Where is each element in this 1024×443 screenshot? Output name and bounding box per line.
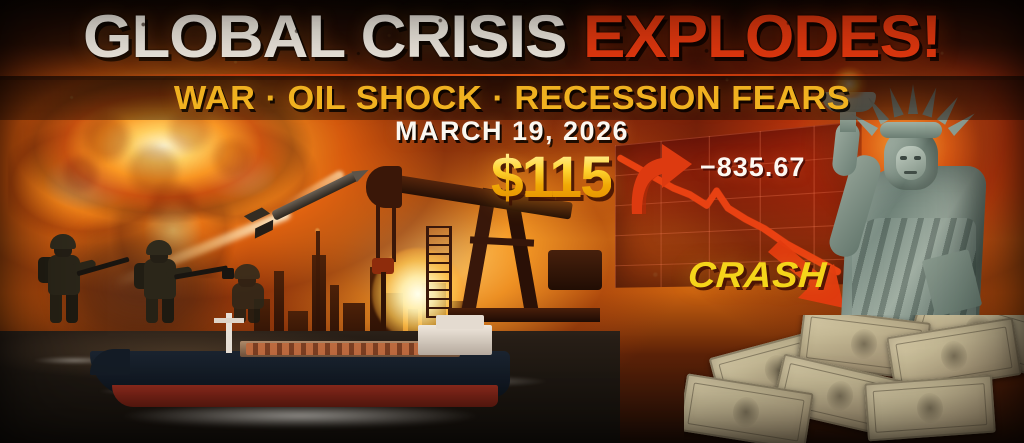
- liberty-face: [896, 146, 926, 180]
- subtitle: WAR · OIL SHOCK · RECESSION FEARS: [0, 80, 1024, 116]
- headline-accent: EXPLODES!: [583, 3, 941, 70]
- ship-bridge: [418, 325, 492, 355]
- pumpjack-ladder: [426, 226, 452, 318]
- dollar-bill: [864, 375, 996, 442]
- ship-bridge-upper: [436, 315, 484, 329]
- up-arrow-icon: [628, 144, 700, 216]
- oil-tanker-ship-icon: [90, 307, 510, 415]
- ship-boot-stripe: [112, 385, 498, 407]
- oil-price-callout: $115: [491, 148, 611, 208]
- date-label: MARCH 19, 2026: [0, 116, 1024, 146]
- crisis-news-banner: GLOBAL CRISIS EXPLODES! WAR · OIL SHOCK …: [0, 0, 1024, 443]
- pumpjack-bridle-a: [376, 204, 380, 262]
- soldier-torso: [48, 255, 80, 295]
- liberty-eye: [914, 156, 921, 160]
- soldier-torso: [144, 259, 176, 299]
- soldier-helmet: [50, 234, 76, 249]
- crash-label: CRASH: [687, 256, 828, 294]
- liberty-mouth: [904, 171, 917, 174]
- soldier-helmet: [146, 240, 172, 255]
- headline-primary: GLOBAL CRISIS: [83, 3, 566, 70]
- pumpjack-counterweight: [548, 250, 602, 290]
- pumpjack-bridle-b: [392, 204, 396, 262]
- page-title: GLOBAL CRISIS EXPLODES!: [0, 6, 1024, 68]
- dollar-bills-pile: [684, 315, 1024, 443]
- liberty-eye: [900, 156, 907, 160]
- ship-mast-crossbar: [214, 318, 244, 323]
- pumpjack-horsehead: [366, 166, 402, 208]
- headline-space: [566, 3, 583, 70]
- soldier-helmet: [234, 264, 260, 279]
- index-change-value: −835.67: [700, 152, 805, 182]
